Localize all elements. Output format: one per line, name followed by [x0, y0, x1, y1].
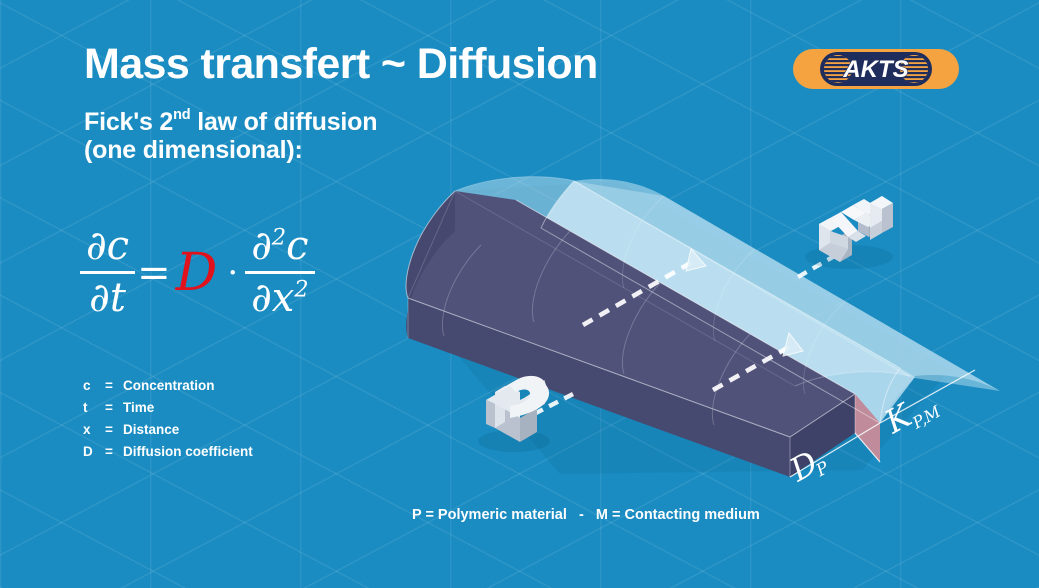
legend-label: Concentration [123, 375, 215, 397]
rhs-numerator: ∂2c [245, 225, 314, 268]
fick-second-law-equation: ∂c ∂t = D · ∂2c ∂x2 [80, 225, 315, 320]
legend-row-t: t = Time [83, 397, 253, 419]
lhs-fraction-bar [80, 271, 135, 274]
subtitle-line-1-part-b: law of diffusion [190, 108, 377, 136]
rhs-denominator-exponent: 2 [294, 277, 308, 303]
legend-equals: = [105, 419, 123, 441]
lhs-numerator: ∂c [80, 225, 135, 268]
letter-M-3d [805, 196, 893, 269]
legend-row-D: D = Diffusion coefficient [83, 441, 253, 463]
rhs-numerator-partial: ∂ [251, 223, 272, 269]
diagram-caption: P = Polymeric material - M = Contacting … [412, 507, 760, 523]
equals-sign: = [137, 250, 171, 296]
subtitle-line-1: Fick's 2nd law of diffusion [84, 108, 377, 136]
legend-symbol: t [83, 397, 105, 419]
multiplication-dot: · [227, 253, 238, 293]
page-title: Mass transfert ~ Diffusion [84, 40, 598, 89]
subtitle-line-1-part-a: Fick's 2 [84, 108, 173, 136]
legend-label: Diffusion coefficient [123, 441, 253, 463]
rhs-denominator: ∂x2 [245, 277, 315, 320]
diffusion-coefficient-symbol: D [173, 243, 221, 303]
legend-label: Distance [123, 419, 179, 441]
legend-equals: = [105, 441, 123, 463]
subtitle-ordinal-suffix: nd [173, 107, 190, 123]
rhs-numerator-exponent: 2 [272, 225, 286, 251]
page-subtitle: Fick's 2nd law of diffusion (one dimensi… [84, 108, 377, 165]
legend-equals: = [105, 375, 123, 397]
logo-wordmark: AKTS [842, 56, 908, 83]
legend-symbol: D [83, 441, 105, 463]
rhs-denominator-partial: ∂x [251, 275, 294, 321]
equation-rhs-fraction: ∂2c ∂x2 [245, 225, 315, 320]
legend-symbol: c [83, 375, 105, 397]
akts-logo[interactable]: AKTS [793, 49, 959, 89]
subtitle-line-2: (one dimensional): [84, 136, 377, 164]
symbol-legend: c = Concentration t = Time x = Distance … [83, 375, 253, 463]
rhs-numerator-variable: c [286, 223, 308, 269]
infographic-canvas: D P K P,M Mass transfert ~ Diffusion Fic… [0, 0, 1039, 588]
legend-equals: = [105, 397, 123, 419]
legend-row-c: c = Concentration [83, 375, 253, 397]
legend-symbol: x [83, 419, 105, 441]
equation-lhs-fraction: ∂c ∂t [80, 225, 135, 320]
legend-row-x: x = Distance [83, 419, 253, 441]
legend-label: Time [123, 397, 154, 419]
lhs-denominator: ∂t [83, 277, 132, 320]
rhs-fraction-bar [245, 271, 315, 274]
